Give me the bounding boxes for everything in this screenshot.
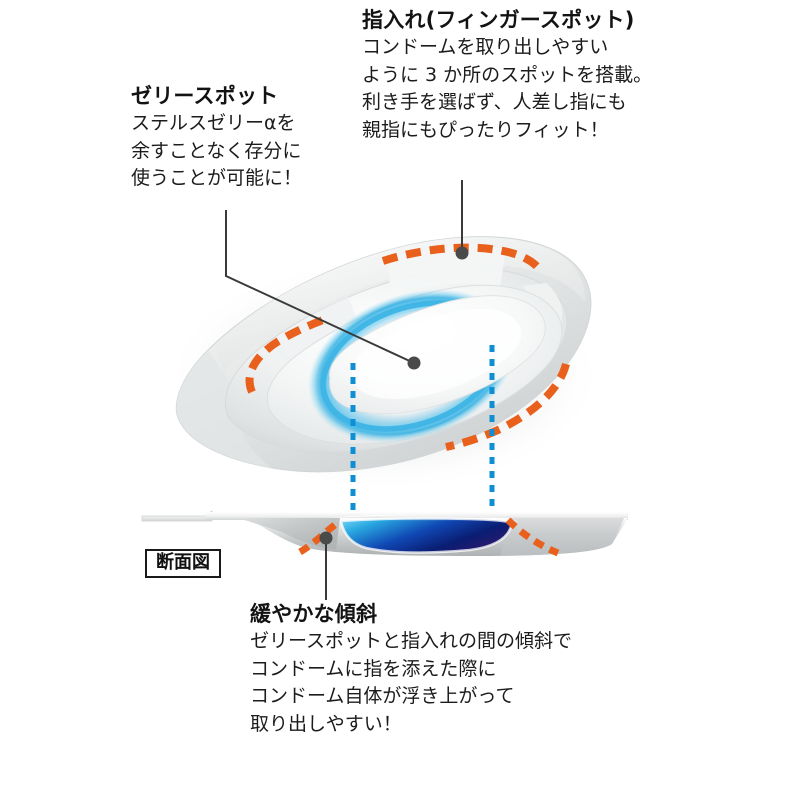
infographic-page: 指入れ(フィンガースポット) コンドームを取り出しやすい ように 3 か所のスポ… — [0, 0, 800, 800]
annotation-gentle-slope-body: ゼリースポットと指入れの間の傾斜で コンドームに指を添えた際に コンドーム自体が… — [250, 628, 572, 740]
annotation-finger-spot: 指入れ(フィンガースポット) コンドームを取り出しやすい ように 3 か所のスポ… — [362, 8, 652, 145]
annotation-finger-spot-body: コンドームを取り出しやすい ように 3 か所のスポットを搭載。 利き手を選ばず、… — [362, 34, 652, 146]
annotation-gentle-slope: 緩やかな傾斜 ゼリースポットと指入れの間の傾斜で コンドームに指を添えた際に コ… — [250, 602, 572, 739]
annotation-jelly-spot: ゼリースポット ステルスゼリーαを 余すことなく存分に 使うことが可能に！ — [131, 84, 302, 193]
section-right-wall — [500, 518, 624, 556]
annotation-jelly-spot-body: ステルスゼリーαを 余すことなく存分に 使うことが可能に！ — [131, 110, 302, 194]
annotation-line: 利き手を選ばず、人差し指にも — [362, 89, 652, 117]
annotation-line: コンドームを取り出しやすい — [362, 34, 652, 62]
annotation-gentle-slope-title: 緩やかな傾斜 — [250, 602, 572, 628]
annotation-line: ステルスゼリーαを — [131, 110, 302, 138]
leader-dot-finger — [456, 247, 469, 260]
annotation-line: ように 3 か所のスポットを搭載。 — [362, 62, 652, 90]
leader-dot-slope — [320, 532, 333, 545]
annotation-line: 親指にもぴったりフィット！ — [362, 117, 652, 145]
leader-dot-jelly — [408, 357, 421, 370]
annotation-line: ゼリースポットと指入れの間の傾斜で — [250, 628, 572, 656]
annotation-finger-spot-title: 指入れ(フィンガースポット) — [362, 8, 652, 34]
annotation-line: 使うことが可能に！ — [131, 165, 302, 193]
annotation-line: コンドームに指を添えた際に — [250, 656, 572, 684]
section-left-flange — [142, 511, 212, 521]
annotation-line: コンドーム自体が浮き上がって — [250, 683, 572, 711]
cross-section-caption: 断面図 — [145, 549, 221, 578]
annotation-jelly-spot-title: ゼリースポット — [131, 84, 302, 110]
annotation-line: 取り出しやすい！ — [250, 711, 572, 739]
annotation-line: 余すことなく存分に — [131, 138, 302, 166]
